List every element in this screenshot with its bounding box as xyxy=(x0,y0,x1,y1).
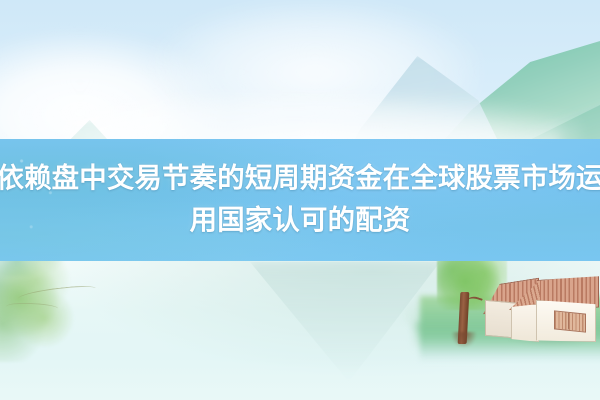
headline-line-2: 用国家认可的配资 xyxy=(190,201,411,241)
tree-root xyxy=(451,332,477,348)
house-wall-front-left xyxy=(511,304,539,342)
house-window xyxy=(554,310,586,332)
house-icon xyxy=(479,276,597,346)
banner-image: 依赖盘中交易节奏的短周期资金在全球股票市场运 用国家认可的配资 xyxy=(0,0,600,400)
headline: 依赖盘中交易节奏的短周期资金在全球股票市场运 用国家认可的配资 xyxy=(0,139,600,261)
house-window-mullion xyxy=(568,313,569,329)
headline-line-1: 依赖盘中交易节奏的短周期资金在全球股票市场运 xyxy=(0,159,600,199)
